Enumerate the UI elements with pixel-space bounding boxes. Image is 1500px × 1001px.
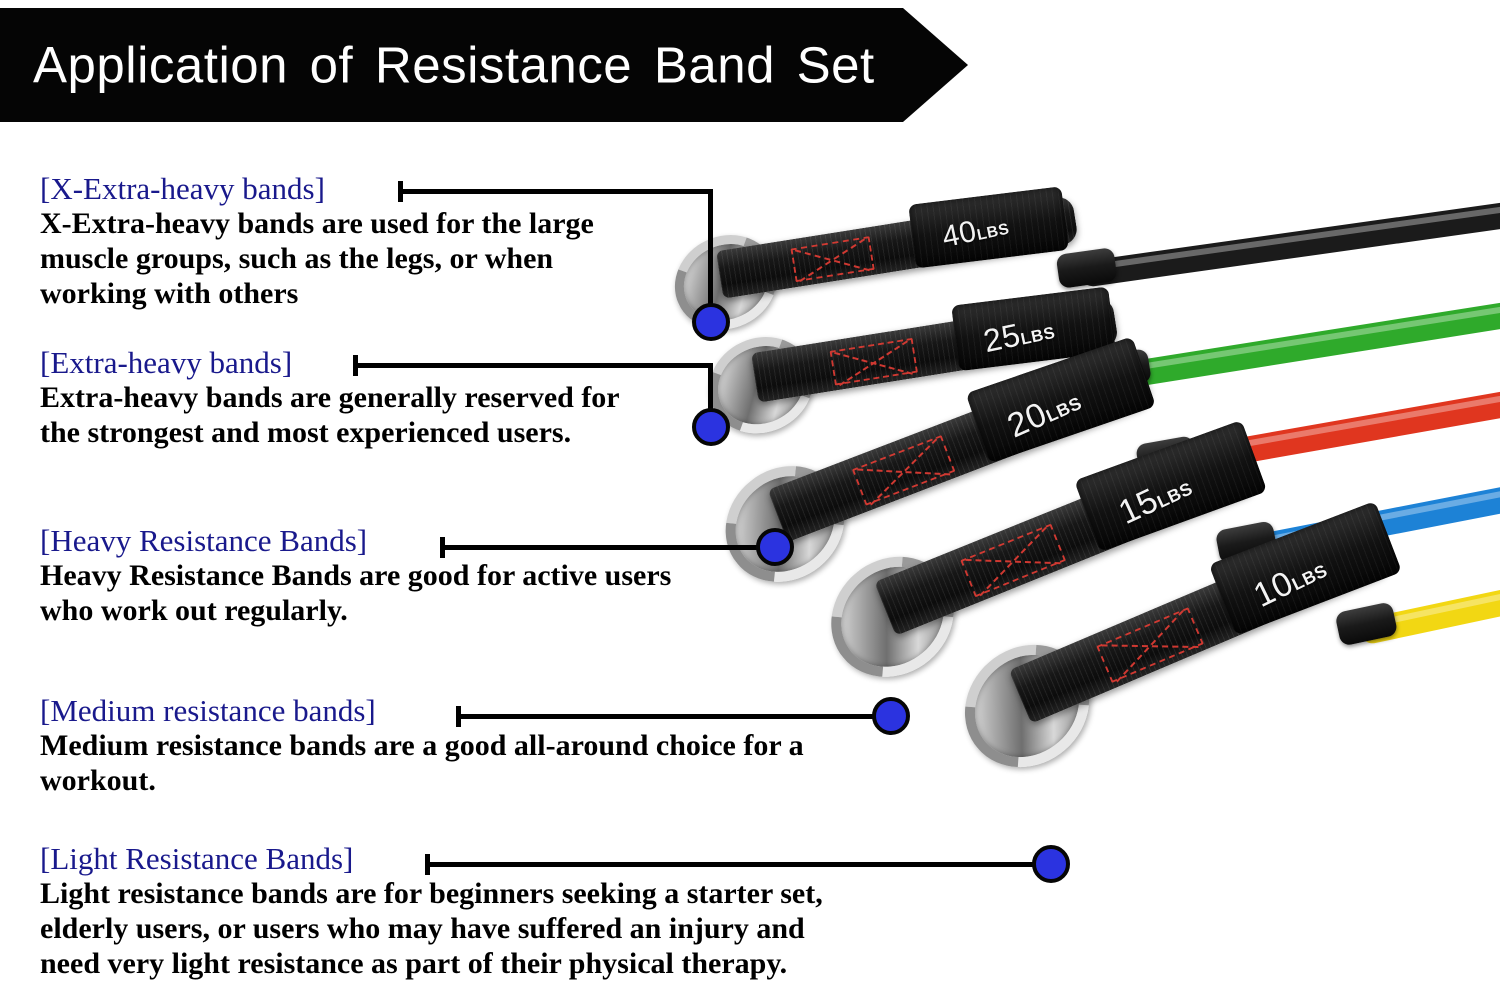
callout-extra-heavy: [Extra-heavy bands] Extra-heavy bands ar… (40, 346, 620, 451)
callout-heading-extra-heavy: [Extra-heavy bands] (40, 346, 620, 379)
callout-body-line: Heavy Resistance Bands are good for acti… (40, 559, 671, 594)
callout-body-line: the strongest and most experienced users… (40, 416, 620, 451)
callout-body-line: who work out regularly. (40, 594, 671, 629)
weight-number-25lbs: 25 (980, 316, 1023, 359)
callout-light: [Light Resistance Bands] Light resistanc… (40, 842, 823, 982)
callout-x-extra-heavy: [X-Extra-heavy bands] X-Extra-heavy band… (40, 172, 594, 312)
callout-body-light: Light resistance bands are for beginners… (40, 877, 823, 981)
callout-body-line: muscle groups, such as the legs, or when (40, 242, 594, 277)
callout-body-line: Medium resistance bands are a good all-a… (40, 729, 804, 764)
callout-heading-light: [Light Resistance Bands] (40, 842, 823, 875)
callout-heading-medium: [Medium resistance bands] (40, 694, 804, 727)
tube-green-25lbs (1113, 291, 1500, 390)
callout-body-line: need very light resistance as part of th… (40, 947, 823, 982)
handle-40lbs: 40LBS (715, 190, 1080, 308)
page-title: Application of Resistance Band Set (33, 36, 875, 95)
callout-heading-heavy: [Heavy Resistance Bands] (40, 524, 671, 557)
callout-heavy: [Heavy Resistance Bands] Heavy Resistanc… (40, 524, 671, 629)
callout-body-line: workout. (40, 764, 804, 799)
callout-body-line: X-Extra-heavy bands are used for the lar… (40, 207, 594, 242)
callout-body-heavy: Heavy Resistance Bands are good for acti… (40, 559, 671, 629)
title-banner: Application of Resistance Band Set (0, 8, 968, 122)
callout-body-line: working with others (40, 277, 594, 312)
callout-body-line: elderly users, or users who may have suf… (40, 912, 823, 947)
callout-body-medium: Medium resistance bands are a good all-a… (40, 729, 804, 799)
callout-heading-x-extra-heavy: [X-Extra-heavy bands] (40, 172, 594, 205)
callout-body-x-extra-heavy: X-Extra-heavy bands are used for the lar… (40, 207, 594, 311)
callout-body-line: Light resistance bands are for beginners… (40, 877, 823, 912)
callout-body-line: Extra-heavy bands are generally reserved… (40, 381, 620, 416)
weight-number-40lbs: 40 (939, 215, 979, 254)
tube-black-40lbs (1078, 195, 1500, 288)
infographic-page: Application of Resistance Band Set 40LBS (0, 0, 1500, 1001)
callout-medium: [Medium resistance bands] Medium resista… (40, 694, 804, 799)
callout-body-extra-heavy: Extra-heavy bands are generally reserved… (40, 381, 620, 451)
